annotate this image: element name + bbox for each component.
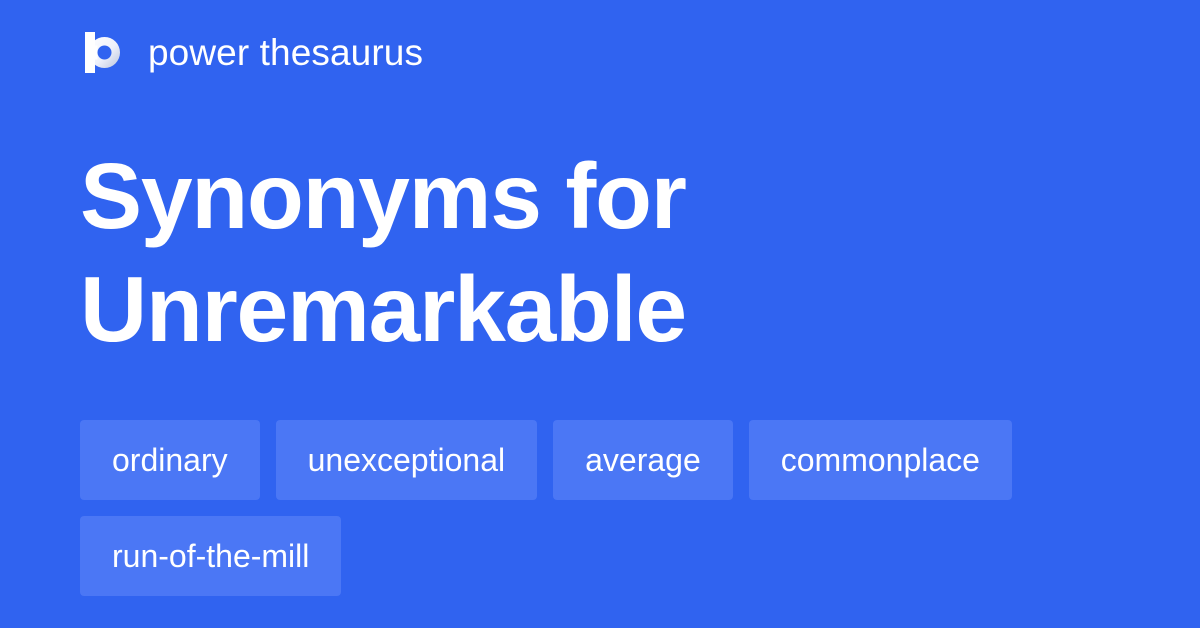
synonym-chip-list: ordinary unexceptional average commonpla…: [80, 420, 1140, 596]
synonym-chip[interactable]: commonplace: [749, 420, 1012, 500]
page-title-line-2: Unremarkable: [80, 253, 1120, 366]
synonym-chip[interactable]: ordinary: [80, 420, 260, 500]
page-title: Synonyms for Unremarkable: [80, 140, 1120, 366]
brand-name: power thesaurus: [148, 34, 423, 71]
page-title-line-1: Synonyms for: [80, 140, 1120, 253]
synonym-chip[interactable]: unexceptional: [276, 420, 537, 500]
synonym-chip[interactable]: run-of-the-mill: [80, 516, 341, 596]
brand-header[interactable]: power thesaurus: [80, 29, 423, 76]
synonym-chip[interactable]: average: [553, 420, 733, 500]
power-thesaurus-b-logo-icon: [80, 29, 127, 76]
